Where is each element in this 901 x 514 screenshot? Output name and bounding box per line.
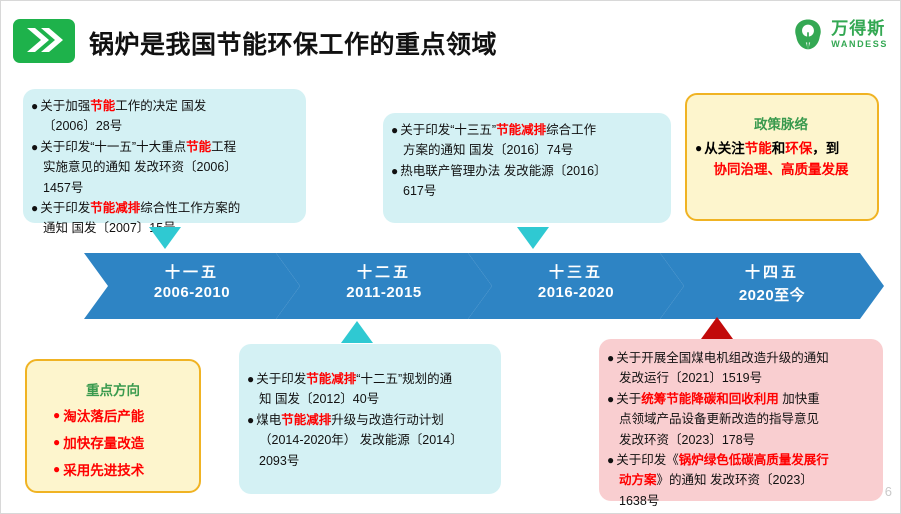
text-run: 关于印发 (40, 201, 90, 215)
page-number: 6 (885, 484, 892, 499)
text-run: 锅炉绿色低碳高质量发展行 (679, 453, 829, 467)
bullet-dot-icon: ● (607, 451, 614, 470)
policy-box-12th-five-year: ●关于印发节能减排“十二五”规划的通 知 国发〔2012〕40号●煤电节能减排升… (239, 344, 501, 494)
list-item-text: 关于加强节能工作的决定 国发 (40, 97, 296, 116)
list-indent-spacer (31, 158, 41, 177)
timeline-period-name: 十四五 (660, 261, 884, 282)
timeline-chevron-1[interactable]: 十二五 2011-2015 (276, 253, 492, 319)
bullet-dot-icon: ● (31, 97, 38, 116)
list-item: 实施意见的通知 发改环资〔2006〕 (31, 158, 296, 177)
text-run: 1457号 (43, 181, 83, 195)
text-run: 工作的决定 国发 (115, 99, 206, 113)
text-run: 节能 (90, 99, 115, 113)
text-run: 综合工作 (546, 123, 596, 137)
list-item-text: 1457号 (43, 179, 296, 198)
text-run: 协同治理、高质量发展 (714, 162, 849, 177)
text-run: 煤电 (256, 413, 281, 427)
text-run: 发改环资〔2023〕178号 (619, 433, 755, 447)
timeline-period-years: 2006-2010 (84, 284, 300, 301)
list-item: ●关于印发《锅炉绿色低碳高质量发展行 (607, 451, 873, 470)
focus-item-label: 采用先进技术 (63, 459, 144, 479)
timeline-period-years: 2020至今 (660, 284, 884, 305)
policy-list-11th: ●关于加强节能工作的决定 国发 〔2006〕28号●关于印发“十一五”十大重点节… (31, 97, 296, 239)
list-item: 617号 (391, 182, 661, 201)
list-item: ●关于开展全国煤电机组改造升级的通知 (607, 349, 873, 368)
timeline-chevron-0[interactable]: 十一五 2006-2010 (84, 253, 300, 319)
bullet-dot-icon: ● (607, 349, 614, 368)
list-indent-spacer (247, 452, 257, 471)
policy-context-title: 政策脉络 (695, 113, 867, 133)
connector-triangle-down-11th (149, 227, 181, 249)
list-indent-spacer (607, 471, 617, 490)
timeline-period-years: 2011-2015 (276, 284, 492, 301)
text-run: 617号 (403, 184, 436, 198)
bullet-dot-icon: ● (607, 390, 614, 409)
list-item: ●热电联产管理办法 发改能源〔2016〕 (391, 162, 661, 181)
list-item: ●关于加强节能工作的决定 国发 (31, 97, 296, 116)
text-run: 从关注 (704, 141, 745, 156)
page-title: 锅炉是我国节能环保工作的重点领域 (89, 25, 497, 61)
text-run: 工程 (211, 140, 236, 154)
list-indent-spacer (607, 492, 617, 511)
bullet-dot-icon: ● (31, 138, 38, 157)
list-indent-spacer (607, 369, 617, 388)
list-indent-spacer (607, 410, 617, 429)
policy-box-14th-five-year: ●关于开展全国煤电机组改造升级的通知 发改运行〔2021〕1519号●关于统筹节… (599, 339, 883, 501)
list-item: ●关于印发“十三五”节能减排综合工作 (391, 121, 661, 140)
text-run: 节能 (186, 140, 211, 154)
text-run: 发改运行〔2021〕1519号 (619, 371, 762, 385)
text-run: 〔2006〕28号 (43, 119, 122, 133)
list-item-text: 关于印发节能减排“十二五”规划的通 (256, 370, 489, 389)
logo-name-en: WANDESS (831, 40, 888, 49)
slide-canvas: 锅炉是我国节能环保工作的重点领域 万得斯 WANDESS ●关于加强节能工作的决… (0, 0, 901, 514)
text-run: 升级与改造行动计划 (331, 413, 444, 427)
text-run: 1638号 (619, 494, 659, 508)
list-item: 1457号 (31, 179, 296, 198)
policy-context-body: ●从关注节能和环保，到协同治理、高质量发展 (695, 139, 867, 181)
bullet-dot-icon: ● (53, 462, 60, 476)
bullet-dot-icon: ● (247, 411, 254, 430)
list-item: 2093号 (247, 452, 489, 471)
list-item: 1638号 (607, 492, 873, 511)
bullet-dot-icon: ● (247, 370, 254, 389)
text-run: 》的通知 发改环资〔2023〕 (657, 473, 813, 487)
list-indent-spacer (31, 117, 41, 136)
list-item: 方案的通知 国发〔2016〕74号 (391, 141, 661, 160)
bullet-dot-icon: ● (53, 435, 60, 449)
focus-item: ●淘汰落后产能 (53, 405, 191, 425)
list-item: ●煤电节能减排升级与改造行动计划 (247, 411, 489, 430)
wandess-leaf-icon (791, 17, 825, 51)
timeline-period-years: 2016-2020 (468, 284, 684, 301)
list-item-text: 点领域产品设备更新改造的指导意见 (619, 410, 873, 429)
timeline-chevron-3[interactable]: 十四五 2020至今 (660, 253, 884, 319)
policy-list-13th: ●关于印发“十三五”节能减排综合工作 方案的通知 国发〔2016〕74号●热电联… (391, 121, 661, 202)
text-run: 关于 (616, 392, 641, 406)
text-run: 热电联产管理办法 发改能源〔2016〕 (400, 164, 606, 178)
list-indent-spacer (247, 390, 257, 409)
policy-context-line2: 协同治理、高质量发展 (695, 160, 867, 180)
list-indent-spacer (31, 179, 41, 198)
list-item: （2014-2020年） 发改能源〔2014〕 (247, 431, 489, 450)
double-chevron-right-icon (13, 19, 75, 63)
focus-item: ●加快存量改造 (53, 432, 191, 452)
list-item-text: 热电联产管理办法 发改能源〔2016〕 (400, 162, 661, 181)
list-item-text: 动方案》的通知 发改环资〔2023〕 (619, 471, 873, 490)
text-run: “十二五”规划的通 (356, 372, 452, 386)
bullet-dot-icon: ● (31, 199, 38, 218)
list-item: ●关于印发节能减排综合性工作方案的 (31, 199, 296, 218)
text-run: 节能减排 (90, 201, 140, 215)
text-run: 方案的通知 国发〔2016〕74号 (403, 143, 573, 157)
text-run: 统筹节能降碳和回收利用 (641, 392, 779, 406)
timeline-period-name: 十一五 (84, 261, 300, 282)
logo-wordmark: 万得斯 WANDESS (831, 20, 888, 49)
focus-directions-box: 重点方向 ●淘汰落后产能 ●加快存量改造 ●采用先进技术 (25, 359, 201, 493)
list-indent-spacer (391, 182, 401, 201)
timeline-chevrons: 十一五 2006-2010 十二五 2011-2015 十三五 2016-202… (84, 253, 884, 319)
connector-triangle-down-13th (517, 227, 549, 249)
list-item: 知 国发〔2012〕40号 (247, 390, 489, 409)
text-run: 节能减排 (496, 123, 546, 137)
list-item: ●关于印发“十一五”十大重点节能工程 (31, 138, 296, 157)
text-run: 节能减排 (306, 372, 356, 386)
list-item: 发改运行〔2021〕1519号 (607, 369, 873, 388)
policy-box-11th-five-year: ●关于加强节能工作的决定 国发 〔2006〕28号●关于印发“十一五”十大重点节… (23, 89, 306, 223)
bullet-dot-icon: ● (53, 408, 60, 422)
text-run: 加快重 (779, 392, 820, 406)
list-item-text: 关于开展全国煤电机组改造升级的通知 (616, 349, 873, 368)
timeline-period-name: 十二五 (276, 261, 492, 282)
focus-item-label: 淘汰落后产能 (63, 405, 144, 425)
list-item-text: 关于印发《锅炉绿色低碳高质量发展行 (616, 451, 873, 470)
list-item-text: 1638号 (619, 492, 873, 511)
text-run: 综合性工作方案的 (140, 201, 240, 215)
list-item-text: 关于统筹节能降碳和回收利用 加快重 (616, 390, 873, 409)
text-run: 关于开展全国煤电机组改造升级的通知 (616, 351, 829, 365)
list-item-text: 关于印发“十三五”节能减排综合工作 (400, 121, 661, 140)
list-indent-spacer (31, 219, 41, 238)
list-item-text: 〔2006〕28号 (43, 117, 296, 136)
timeline-period-name: 十三五 (468, 261, 684, 282)
text-run: 动方案 (619, 473, 657, 487)
text-run: 点领域产品设备更新改造的指导意见 (619, 412, 819, 426)
text-run: 关于印发“十一五”十大重点 (40, 140, 186, 154)
timeline-chevron-2[interactable]: 十三五 2016-2020 (468, 253, 684, 319)
bullet-dot-icon: ● (695, 139, 702, 158)
list-item-text: 方案的通知 国发〔2016〕74号 (403, 141, 661, 160)
list-item-text: 实施意见的通知 发改环资〔2006〕 (43, 158, 296, 177)
text-run: ，到 (812, 141, 839, 156)
text-run: 2093号 (259, 454, 299, 468)
list-item-text: 煤电节能减排升级与改造行动计划 (256, 411, 489, 430)
text-run: 和 (772, 141, 786, 156)
text-run: 节能 (745, 141, 772, 156)
text-run: 关于印发 (256, 372, 306, 386)
text-run: 节能减排 (281, 413, 331, 427)
list-item-text: 关于印发节能减排综合性工作方案的 (40, 199, 296, 218)
list-item: 〔2006〕28号 (31, 117, 296, 136)
list-item-text: 2093号 (259, 452, 489, 471)
list-item: ●关于印发节能减排“十二五”规划的通 (247, 370, 489, 389)
text-run: 关于加强 (40, 99, 90, 113)
list-item: 点领域产品设备更新改造的指导意见 (607, 410, 873, 429)
list-item: 发改环资〔2023〕178号 (607, 431, 873, 450)
bullet-dot-icon: ● (391, 162, 398, 181)
connector-triangle-up-12th (341, 321, 373, 343)
connector-triangle-up-14th (701, 317, 733, 339)
focus-item-label: 加快存量改造 (63, 432, 144, 452)
focus-directions-title: 重点方向 (35, 379, 191, 399)
text-run: （2014-2020年） 发改能源〔2014〕 (259, 433, 463, 447)
list-item-text: 知 国发〔2012〕40号 (259, 390, 489, 409)
list-item-text: 关于印发“十一五”十大重点节能工程 (40, 138, 296, 157)
list-item-text: （2014-2020年） 发改能源〔2014〕 (259, 431, 489, 450)
policy-list-14th: ●关于开展全国煤电机组改造升级的通知 发改运行〔2021〕1519号●关于统筹节… (607, 349, 873, 511)
list-item: ●关于统筹节能降碳和回收利用 加快重 (607, 390, 873, 409)
policy-context-box: 政策脉络 ●从关注节能和环保，到协同治理、高质量发展 (685, 93, 879, 221)
list-indent-spacer (391, 141, 401, 160)
logo-name-cn: 万得斯 (831, 20, 888, 37)
list-indent-spacer (607, 431, 617, 450)
text-run: 关于印发《 (616, 453, 679, 467)
focus-item: ●采用先进技术 (53, 459, 191, 479)
list-item-text: 617号 (403, 182, 661, 201)
policy-list-12th: ●关于印发节能减排“十二五”规划的通 知 国发〔2012〕40号●煤电节能减排升… (247, 370, 489, 471)
list-item: 动方案》的通知 发改环资〔2023〕 (607, 471, 873, 490)
text-run: 知 国发〔2012〕40号 (259, 392, 379, 406)
policy-box-13th-five-year: ●关于印发“十三五”节能减排综合工作 方案的通知 国发〔2016〕74号●热电联… (383, 113, 671, 223)
text-run: 实施意见的通知 发改环资〔2006〕 (43, 160, 237, 174)
text-run: 环保 (785, 141, 812, 156)
list-item: ●从关注节能和环保，到 (695, 139, 867, 159)
bullet-dot-icon: ● (391, 121, 398, 140)
list-item-text: 发改环资〔2023〕178号 (619, 431, 873, 450)
brand-logo: 万得斯 WANDESS (791, 13, 888, 55)
text-run: 关于印发“十三五” (400, 123, 496, 137)
list-item-text: 发改运行〔2021〕1519号 (619, 369, 873, 388)
list-indent-spacer (247, 431, 257, 450)
list-item-text: 从关注节能和环保，到 (704, 139, 867, 159)
